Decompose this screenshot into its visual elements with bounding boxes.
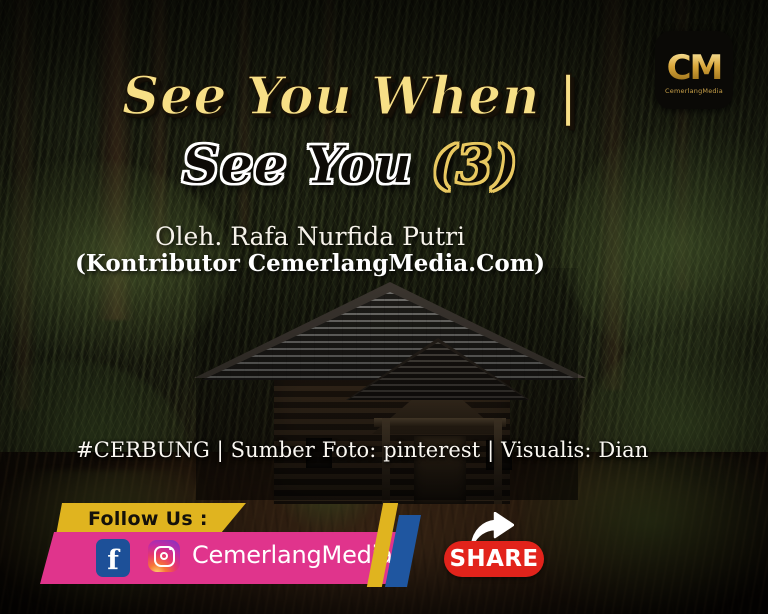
social-handle-text: CemerlangMedia xyxy=(192,541,393,569)
logo-wordmark: CemerlangMedia xyxy=(665,87,723,95)
instagram-flash-dot xyxy=(169,548,172,551)
share-button[interactable]: SHARE xyxy=(444,541,544,577)
facebook-icon[interactable]: f xyxy=(96,539,130,577)
poster-content: See You When | See You (3) Oleh. Rafa Nu… xyxy=(0,0,768,614)
instagram-camera-glyph xyxy=(154,546,175,567)
cemerlang-media-logo[interactable]: CM CemerlangMedia xyxy=(655,31,733,109)
facebook-glyph: f xyxy=(107,547,119,574)
follow-us-banner: Follow Us : xyxy=(56,503,246,535)
poster-canvas: See You When | See You (3) Oleh. Rafa Nu… xyxy=(0,0,768,614)
instagram-lens-glyph xyxy=(160,552,168,560)
logo-monogram: CM xyxy=(667,51,722,85)
poster-title-line-2-text: See You xyxy=(182,135,431,196)
author-affiliation: (Kontributor CemerlangMedia.Com) xyxy=(0,250,620,277)
poster-title-episode-number: (3) xyxy=(431,135,518,196)
credits-line: #CERBUNG | Sumber Foto: pinterest | Visu… xyxy=(76,438,648,462)
instagram-icon[interactable] xyxy=(148,540,180,572)
poster-title-line-1: See You When | xyxy=(0,66,700,127)
share-button-label: SHARE xyxy=(449,546,538,572)
follow-us-label: Follow Us : xyxy=(88,508,208,530)
poster-title-line-2: See You (3) xyxy=(0,135,700,196)
author-line: Oleh. Rafa Nurfida Putri xyxy=(0,222,620,251)
share-control[interactable]: SHARE xyxy=(444,512,544,580)
